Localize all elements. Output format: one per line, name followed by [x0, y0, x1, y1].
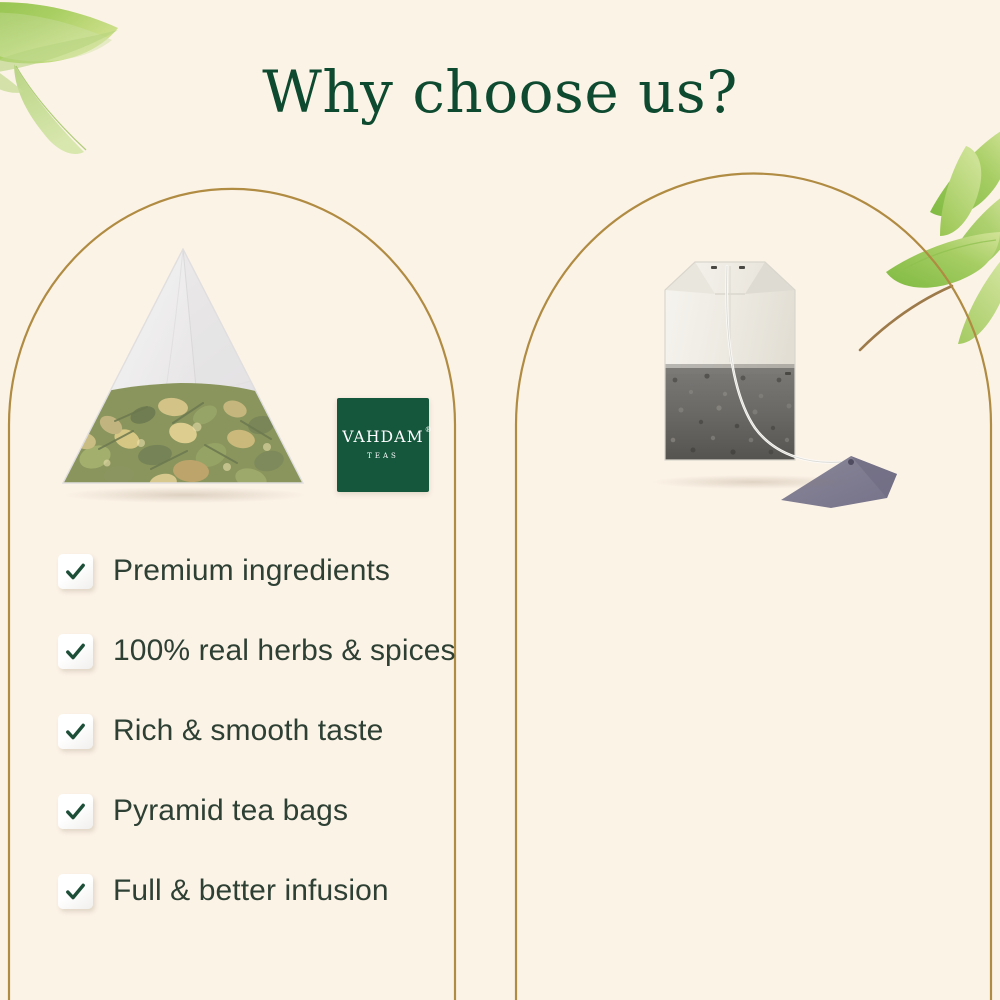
pyramid-tea-bag-graphic	[55, 243, 315, 513]
list-item: Premium ingredients	[58, 548, 488, 594]
regular-tea-bag-graphic	[645, 250, 945, 515]
check-icon	[58, 794, 93, 829]
benefits-list: Premium ingredients 100% real herbs & sp…	[58, 548, 488, 914]
list-item: Full & better infusion	[58, 868, 488, 914]
regular-bag-shadow	[653, 475, 853, 489]
list-item-label: Full & better infusion	[113, 874, 389, 908]
list-item: 100% real herbs & spices	[58, 628, 488, 674]
list-item-label: Rich & smooth taste	[113, 714, 383, 748]
list-item-label: Premium ingredients	[113, 554, 390, 588]
product-image-regular-bag	[500, 250, 1000, 550]
brand-name-wrap: VAHDAM ®	[342, 430, 424, 446]
list-item: Rich & smooth taste	[58, 708, 488, 754]
registered-mark: ®	[425, 427, 432, 434]
list-item-label: Pyramid tea bags	[113, 794, 348, 828]
brand-tagline: TEAS	[367, 453, 399, 460]
pyramid-shadow	[65, 487, 305, 503]
list-item-label: 100% real herbs & spices	[113, 634, 456, 668]
column-ordinary: Tea dust Synthetic flavouring Harsh and …	[500, 0, 1000, 1000]
tea-dust-fill	[663, 364, 799, 462]
brand-name: VAHDAM	[342, 428, 424, 446]
check-icon	[58, 634, 93, 669]
vahdam-logo-tile: VAHDAM ® TEAS	[337, 398, 429, 492]
check-icon	[58, 554, 93, 589]
check-icon	[58, 874, 93, 909]
product-image-pyramid-bag: VAHDAM ® TEAS	[0, 235, 500, 535]
column-vahdam: VAHDAM ® TEAS Premium ingredients 100% r…	[0, 0, 500, 1000]
pyramid-bag-svg	[55, 243, 315, 513]
infographic-canvas: Why choose us?	[0, 0, 1000, 1000]
check-icon	[58, 714, 93, 749]
list-item: Pyramid tea bags	[58, 788, 488, 834]
